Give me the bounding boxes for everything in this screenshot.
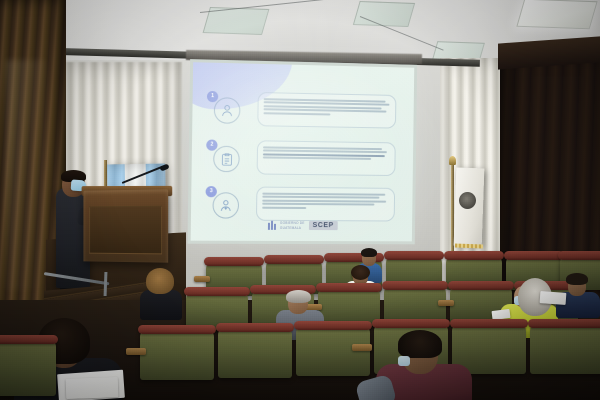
seat-writing-tablet (352, 344, 372, 351)
projection-screen: 1 2 (188, 59, 418, 244)
left-column-highlight (6, 60, 46, 290)
slide-item-text (257, 140, 396, 176)
attendee-hair (566, 273, 588, 285)
presentation-slide: 1 2 (191, 62, 415, 241)
auditorium-presentation-photo: 1 2 (0, 0, 600, 400)
flag-finial (449, 156, 456, 165)
face-mask-icon (398, 356, 410, 366)
seat-writing-tablet (438, 300, 454, 306)
clipboard-icon (213, 146, 240, 173)
scep-logo: SCEP (309, 221, 338, 230)
government-wordmark: GOBIERNO DE GUATEMALA (280, 221, 305, 229)
attendee-hair (146, 268, 174, 294)
slide-item: 2 (206, 139, 396, 176)
slide-item: 1 (207, 91, 397, 129)
papers (540, 291, 567, 305)
doctor-icon (212, 192, 239, 218)
attendee-hair (361, 248, 377, 257)
person-circle-icon (214, 97, 241, 124)
auditorium-seat (0, 340, 56, 396)
attendee (376, 330, 472, 400)
ceiling-panel (353, 1, 415, 27)
slide-item: 3 (205, 186, 395, 221)
auditorium-seat (140, 330, 214, 380)
government-bars-icon (268, 221, 276, 230)
seat-writing-tablet (126, 348, 146, 355)
slide-item-text (257, 92, 396, 129)
attendee-hair (351, 265, 370, 280)
slide-footer: GOBIERNO DE GUATEMALA SCEP (191, 220, 412, 230)
attendee-hair (398, 330, 442, 358)
attendee-hair (286, 290, 311, 303)
ceiling-light-panel (516, 0, 597, 29)
seat-writing-tablet (194, 276, 210, 282)
auditorium-seat (530, 324, 600, 374)
auditorium-seat (296, 326, 370, 376)
attendee-body (140, 290, 182, 320)
institutional-flag-emblem (459, 192, 476, 209)
podium-front-panel (89, 206, 162, 255)
attendee (140, 270, 182, 316)
papers (66, 377, 119, 399)
slide-item-text (256, 187, 395, 222)
auditorium-seat (218, 328, 292, 378)
